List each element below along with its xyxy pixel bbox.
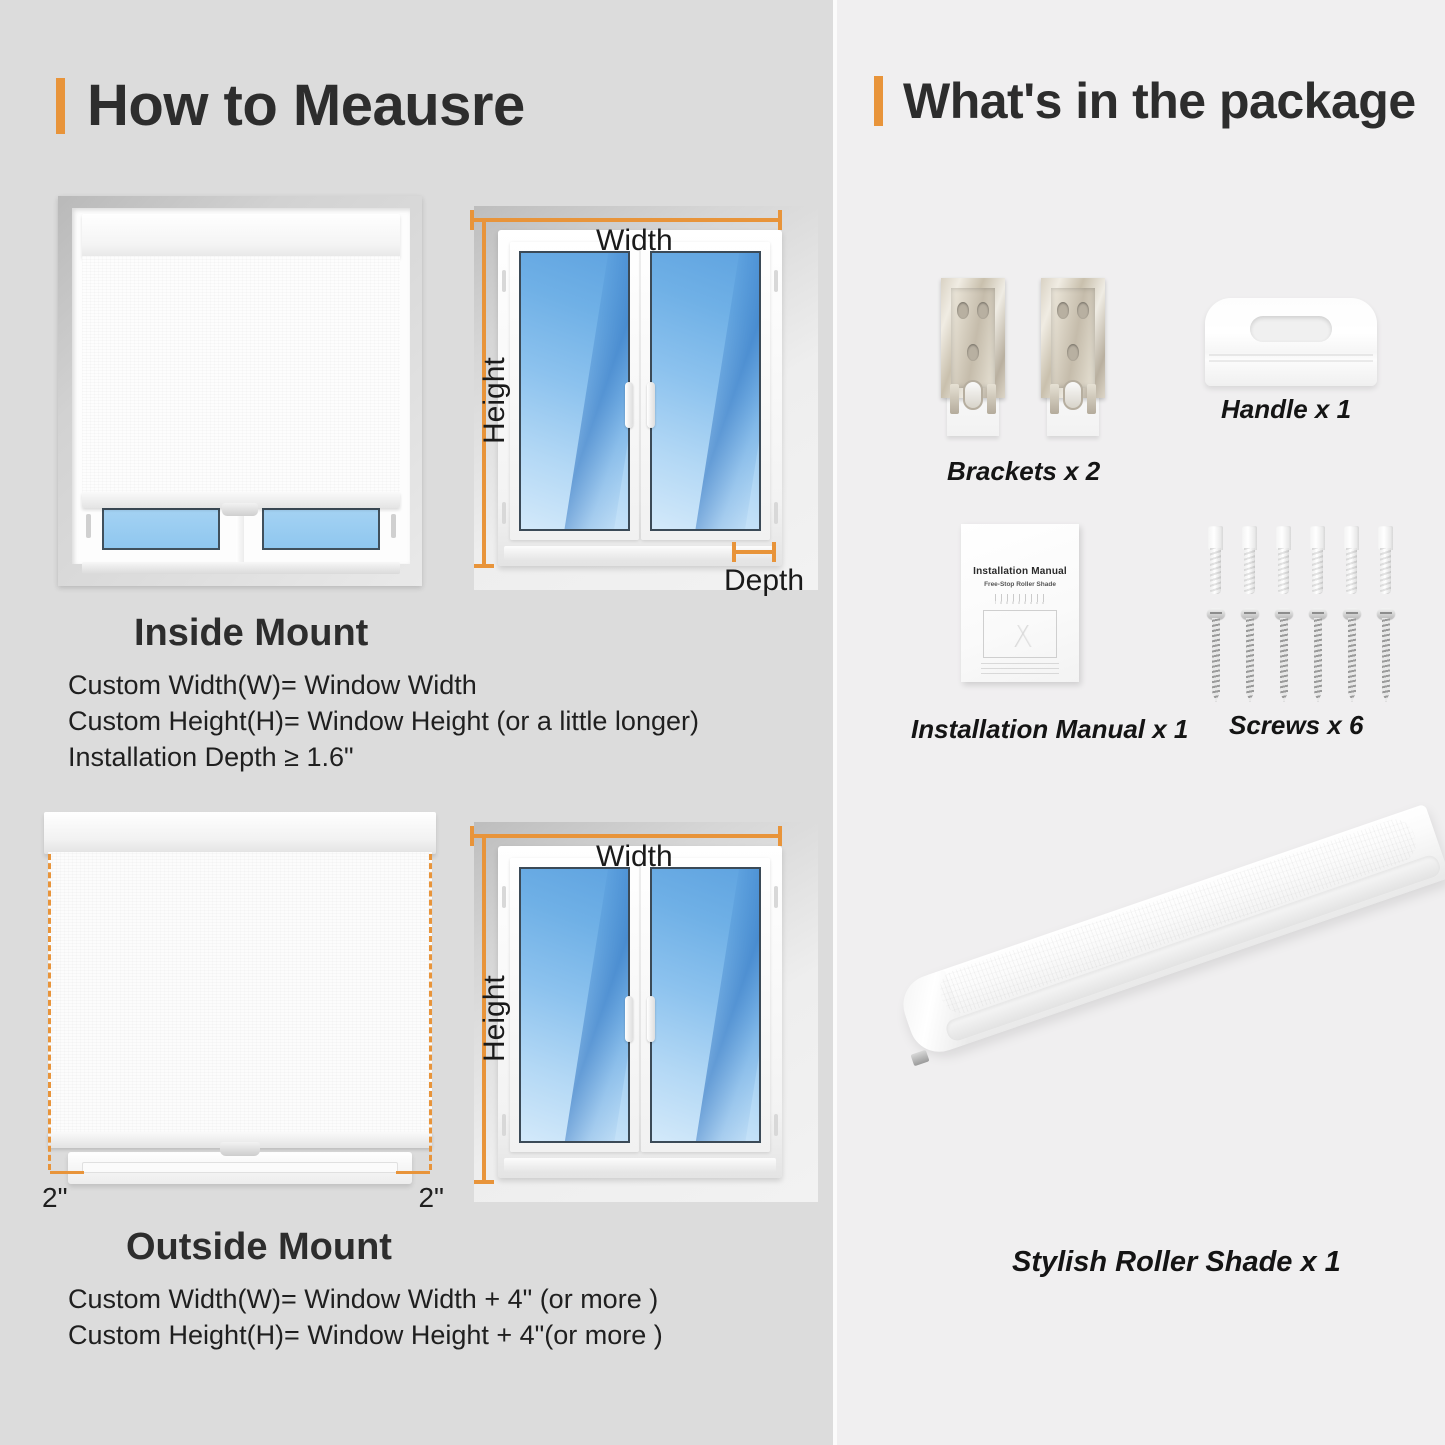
bracket-icon	[941, 278, 1005, 436]
depth-measure-line	[734, 550, 776, 554]
brackets-label: Brackets x 2	[947, 456, 1100, 487]
height-cap-bottom-icon	[474, 1180, 494, 1184]
height-cap-top-icon	[474, 834, 494, 838]
accent-bar-icon	[56, 78, 65, 134]
overhang-dashed-line-right	[429, 854, 432, 1170]
diagram-glass-right	[650, 867, 761, 1143]
bracket-icon	[1041, 278, 1105, 436]
wall-anchor-icon	[1275, 526, 1292, 594]
width-measure-line	[472, 218, 782, 222]
screw-icon	[1241, 608, 1259, 710]
wall-anchor-icon	[1309, 526, 1326, 594]
handle-ridge	[1209, 360, 1373, 362]
screw-icon	[1309, 608, 1327, 710]
manual-cover-subtitle: Free-Stop Roller Shade	[961, 581, 1079, 588]
diagram-hinge-bottom-left-icon	[502, 502, 506, 524]
height-label: Height	[478, 357, 512, 444]
overhang-label-left: 2"	[42, 1182, 68, 1214]
outside-mount-line-1: Custom Width(W)= Window Width + 4" (or m…	[68, 1284, 658, 1315]
bracket-hole-icon	[957, 302, 969, 319]
outside-mount-title: Outside Mount	[126, 1226, 392, 1269]
width-cap-right-icon	[778, 826, 782, 846]
height-cap-top-icon	[474, 218, 494, 222]
diagram-window-frame	[498, 230, 782, 566]
overhang-label-right: 2"	[418, 1182, 444, 1214]
inside-mount-measurement-diagram: Width Height Depth	[452, 196, 822, 596]
shade-fabric	[82, 256, 400, 494]
diagram-sash-right	[641, 242, 770, 540]
diagram-sash-right	[641, 858, 770, 1152]
overhang-measure-bar-right	[396, 1171, 430, 1174]
bracket-slot-icon	[1087, 384, 1096, 414]
outside-shade-headrail	[44, 812, 436, 854]
height-label: Height	[478, 975, 512, 1062]
diagram-hinge-bottom-right-icon	[774, 1114, 778, 1136]
inside-mount-line-2: Custom Height(H)= Window Height (or a li…	[68, 706, 699, 737]
bracket-oval-icon	[1063, 380, 1083, 410]
diagram-glass-right	[650, 251, 761, 531]
bracket-hole-icon	[977, 302, 989, 319]
screws-label: Screws x 6	[1229, 710, 1363, 741]
manual-diagram-box	[983, 610, 1057, 658]
wall-anchor-icon	[1343, 526, 1360, 594]
diagram-hinge-top-left-icon	[502, 886, 506, 908]
diagram-hinge-top-right-icon	[774, 270, 778, 292]
how-to-measure-heading: How to Meausre	[56, 72, 525, 139]
bracket-slot-icon	[950, 384, 959, 414]
overhang-measure-bar-left	[50, 1171, 84, 1174]
diagram-handle-left-icon	[625, 382, 633, 428]
window-hinge-right-icon	[391, 514, 396, 538]
bracket-slot-icon	[1050, 384, 1059, 414]
outside-shade-pull-handle-icon	[220, 1142, 260, 1156]
diagram-hinge-bottom-left-icon	[502, 1114, 506, 1136]
roller-shade-label: Stylish Roller Shade x 1	[1012, 1246, 1341, 1279]
inside-mount-shade-illustration	[58, 196, 422, 586]
handle-label: Handle x 1	[1221, 394, 1351, 425]
manual-cover-title: Installation Manual	[961, 566, 1079, 577]
shade-headrail	[82, 214, 400, 258]
bracket-hole-icon	[1077, 302, 1089, 319]
heading-label: How to Meausre	[87, 72, 525, 139]
overhang-dashed-line-left	[48, 854, 51, 1170]
diagram-window-sill	[504, 1158, 776, 1172]
bracket-oval-icon	[963, 380, 983, 410]
how-to-measure-panel: How to Meausre	[0, 0, 833, 1445]
diagram-handle-left-icon	[625, 996, 633, 1042]
heading-label: What's in the package	[903, 72, 1416, 130]
diagram-sash-left	[510, 858, 639, 1152]
bracket-hole-icon	[1067, 344, 1079, 361]
diagram-window-frame	[498, 846, 782, 1178]
wall-anchor-icon	[1377, 526, 1394, 594]
outside-mount-line-2: Custom Height(H)= Window Height + 4"(or …	[68, 1320, 663, 1351]
outside-mount-measurement-diagram: Width Height	[452, 812, 822, 1208]
screw-icon	[1377, 608, 1395, 710]
height-cap-bottom-icon	[474, 564, 494, 568]
manual-label: Installation Manual x 1	[911, 714, 1188, 745]
diagram-handle-right-icon	[647, 996, 655, 1042]
outside-mount-shade-illustration: 2" 2"	[30, 806, 450, 1206]
inside-mount-line-3: Installation Depth ≥ 1.6"	[68, 742, 354, 773]
wall-anchor-icon	[1207, 526, 1224, 594]
screw-icon	[1275, 608, 1293, 710]
depth-cap-right-icon	[772, 542, 776, 562]
bracket-slot-icon	[987, 384, 996, 414]
screw-icon	[1207, 608, 1225, 710]
outside-shade-fabric	[48, 852, 432, 1136]
diagram-handle-right-icon	[647, 382, 655, 428]
window-glass-left	[102, 508, 220, 550]
bracket-hole-icon	[1057, 302, 1069, 319]
bracket-hole-icon	[967, 344, 979, 361]
package-contents-panel: What's in the package Brackets x 2 Handl…	[837, 0, 1445, 1445]
width-label: Width	[596, 224, 673, 258]
handle-slot-icon	[1250, 316, 1332, 342]
shade-end-clip-icon	[910, 1050, 929, 1067]
handle-icon	[1205, 298, 1377, 386]
diagram-hinge-top-right-icon	[774, 886, 778, 908]
diagram-sash-left	[510, 242, 639, 540]
manual-footer-text	[981, 662, 1059, 674]
window-hinge-left-icon	[86, 514, 91, 538]
diagram-glass-left	[519, 867, 630, 1143]
manual-scribble	[995, 594, 1045, 604]
diagram-hinge-top-left-icon	[502, 270, 506, 292]
roller-shade-icon	[900, 876, 1440, 1216]
depth-label: Depth	[724, 564, 804, 598]
shade-pull-handle-icon	[222, 503, 258, 516]
window-sill	[82, 562, 400, 574]
window-glass-right	[262, 508, 380, 550]
inside-mount-title: Inside Mount	[134, 612, 368, 655]
outside-window-sill	[68, 1152, 412, 1184]
screw-icon	[1343, 608, 1361, 710]
inside-mount-line-1: Custom Width(W)= Window Width	[68, 670, 477, 701]
diagram-glass-left	[519, 251, 630, 531]
wall-anchor-icon	[1241, 526, 1258, 594]
width-cap-right-icon	[778, 210, 782, 230]
package-heading: What's in the package	[874, 72, 1416, 130]
width-measure-line	[472, 834, 782, 838]
accent-bar-icon	[874, 76, 883, 126]
depth-cap-left-icon	[732, 542, 736, 562]
width-label: Width	[596, 840, 673, 874]
diagram-hinge-bottom-right-icon	[774, 502, 778, 524]
handle-ridge	[1209, 354, 1373, 356]
manual-icon: Installation Manual Free-Stop Roller Sha…	[961, 524, 1079, 682]
